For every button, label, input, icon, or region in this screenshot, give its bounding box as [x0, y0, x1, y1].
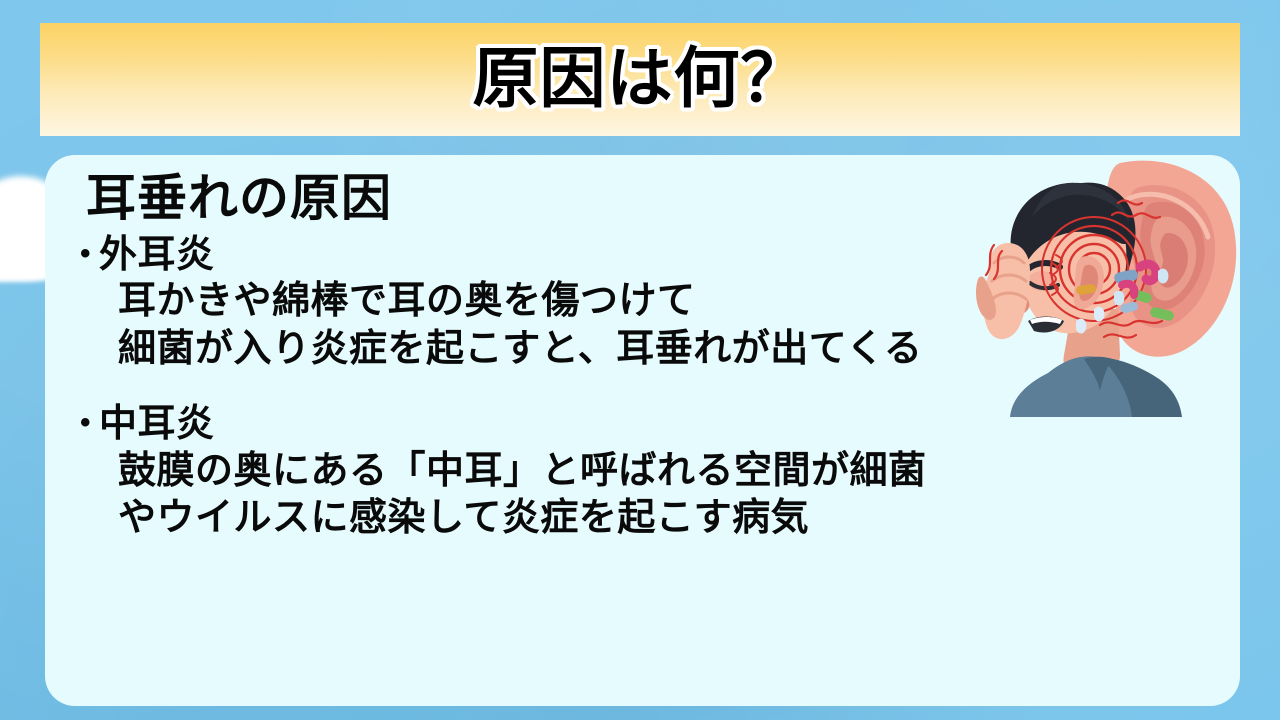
bullet-dot-icon: • — [80, 408, 91, 438]
bullet-block-chujien: • 中耳炎 鼓膜の奥にある「中耳」と呼ばれる空間が細菌 やウイルスに感染して炎症… — [80, 401, 1220, 542]
card-body: 耳垂れの原因 • 外耳炎 耳かきや綿棒で耳の奥を傷つけて 細菌が入り炎症を起こす… — [45, 155, 1240, 555]
bullet-title-row: • 中耳炎 — [80, 401, 1220, 447]
bullet-title: 外耳炎 — [99, 232, 215, 278]
title-banner: 原因は何？ — [40, 23, 1240, 136]
bullet-line: やウイルスに感染して炎症を起こす病気 — [118, 495, 1220, 543]
bullet-title-row: • 外耳炎 — [80, 232, 1220, 278]
bullet-title: 中耳炎 — [99, 401, 215, 447]
page-title: 原因は何？ — [473, 45, 808, 111]
bullet-line: 耳かきや綿棒で耳の奥を傷つけて — [118, 278, 1220, 326]
bullet-line: 細菌が入り炎症を起こすと、耳垂れが出てくる — [118, 326, 1220, 374]
bullet-line: 鼓膜の奥にある「中耳」と呼ばれる空間が細菌 — [118, 448, 1220, 496]
bullet-block-gaijien: • 外耳炎 耳かきや綿棒で耳の奥を傷つけて 細菌が入り炎症を起こすと、耳垂れが出… — [80, 232, 1220, 373]
content-card: 耳垂れの原因 • 外耳炎 耳かきや綿棒で耳の奥を傷つけて 細菌が入り炎症を起こす… — [45, 155, 1240, 706]
bullet-dot-icon: • — [80, 239, 91, 269]
card-heading: 耳垂れの原因 — [86, 171, 1220, 226]
